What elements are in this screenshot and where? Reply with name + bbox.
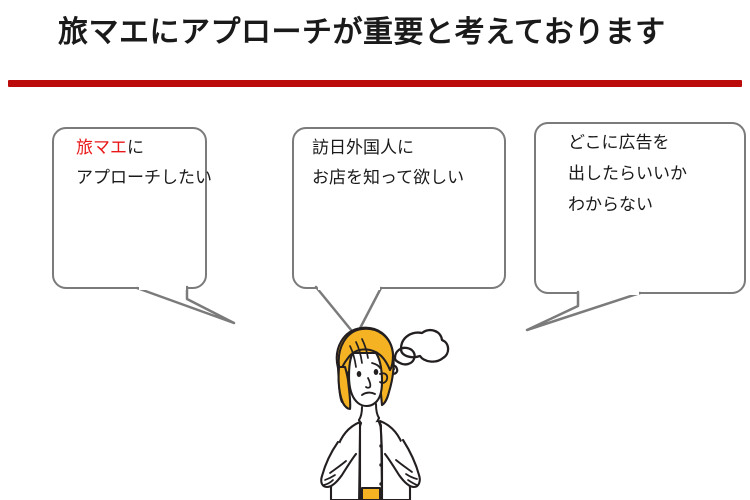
speech-bubble-travel-pre: 旅マエに アプローチしたい <box>52 127 207 289</box>
bubble-3-line-1: どこに広告を <box>548 134 732 151</box>
skirt-accent <box>362 488 380 500</box>
character-line-art <box>321 328 448 500</box>
button-dot <box>379 463 382 466</box>
bubble-1-line-2: アプローチしたい <box>66 169 193 186</box>
bubble-3-line-3: わからない <box>548 196 732 213</box>
page-title: 旅マエにアプローチが重要と考えております <box>58 16 718 51</box>
speech-bubble-inbound-visitors: 訪日外国人に お店を知って欲しい <box>292 127 506 289</box>
bubble-1-accent-text: 旅マエ <box>76 138 127 157</box>
bubble-1-line-1: 旅マエに <box>66 139 193 156</box>
puzzled-woman-illustration <box>300 310 490 500</box>
bubble-3-line-2: 出したらいいか <box>548 165 732 182</box>
title-underline-rule <box>8 80 742 87</box>
bubble-2-line-1: 訪日外国人に <box>306 139 492 156</box>
speech-bubble-where-to-advertise: どこに広告を 出したらいいか わからない <box>534 122 746 294</box>
tail-bubble-1 <box>137 287 234 323</box>
button-dot <box>379 444 382 447</box>
bubble-1-plain-text: に <box>127 138 144 157</box>
button-dot <box>379 482 382 485</box>
tail-bubble-3 <box>527 292 640 330</box>
bubble-2-line-2: お店を知って欲しい <box>306 169 492 186</box>
slide-canvas: 旅マエにアプローチが重要と考えております 旅マエに アプローチしたい 訪日外国人… <box>0 0 750 500</box>
thought-bubble-icon <box>389 330 448 374</box>
